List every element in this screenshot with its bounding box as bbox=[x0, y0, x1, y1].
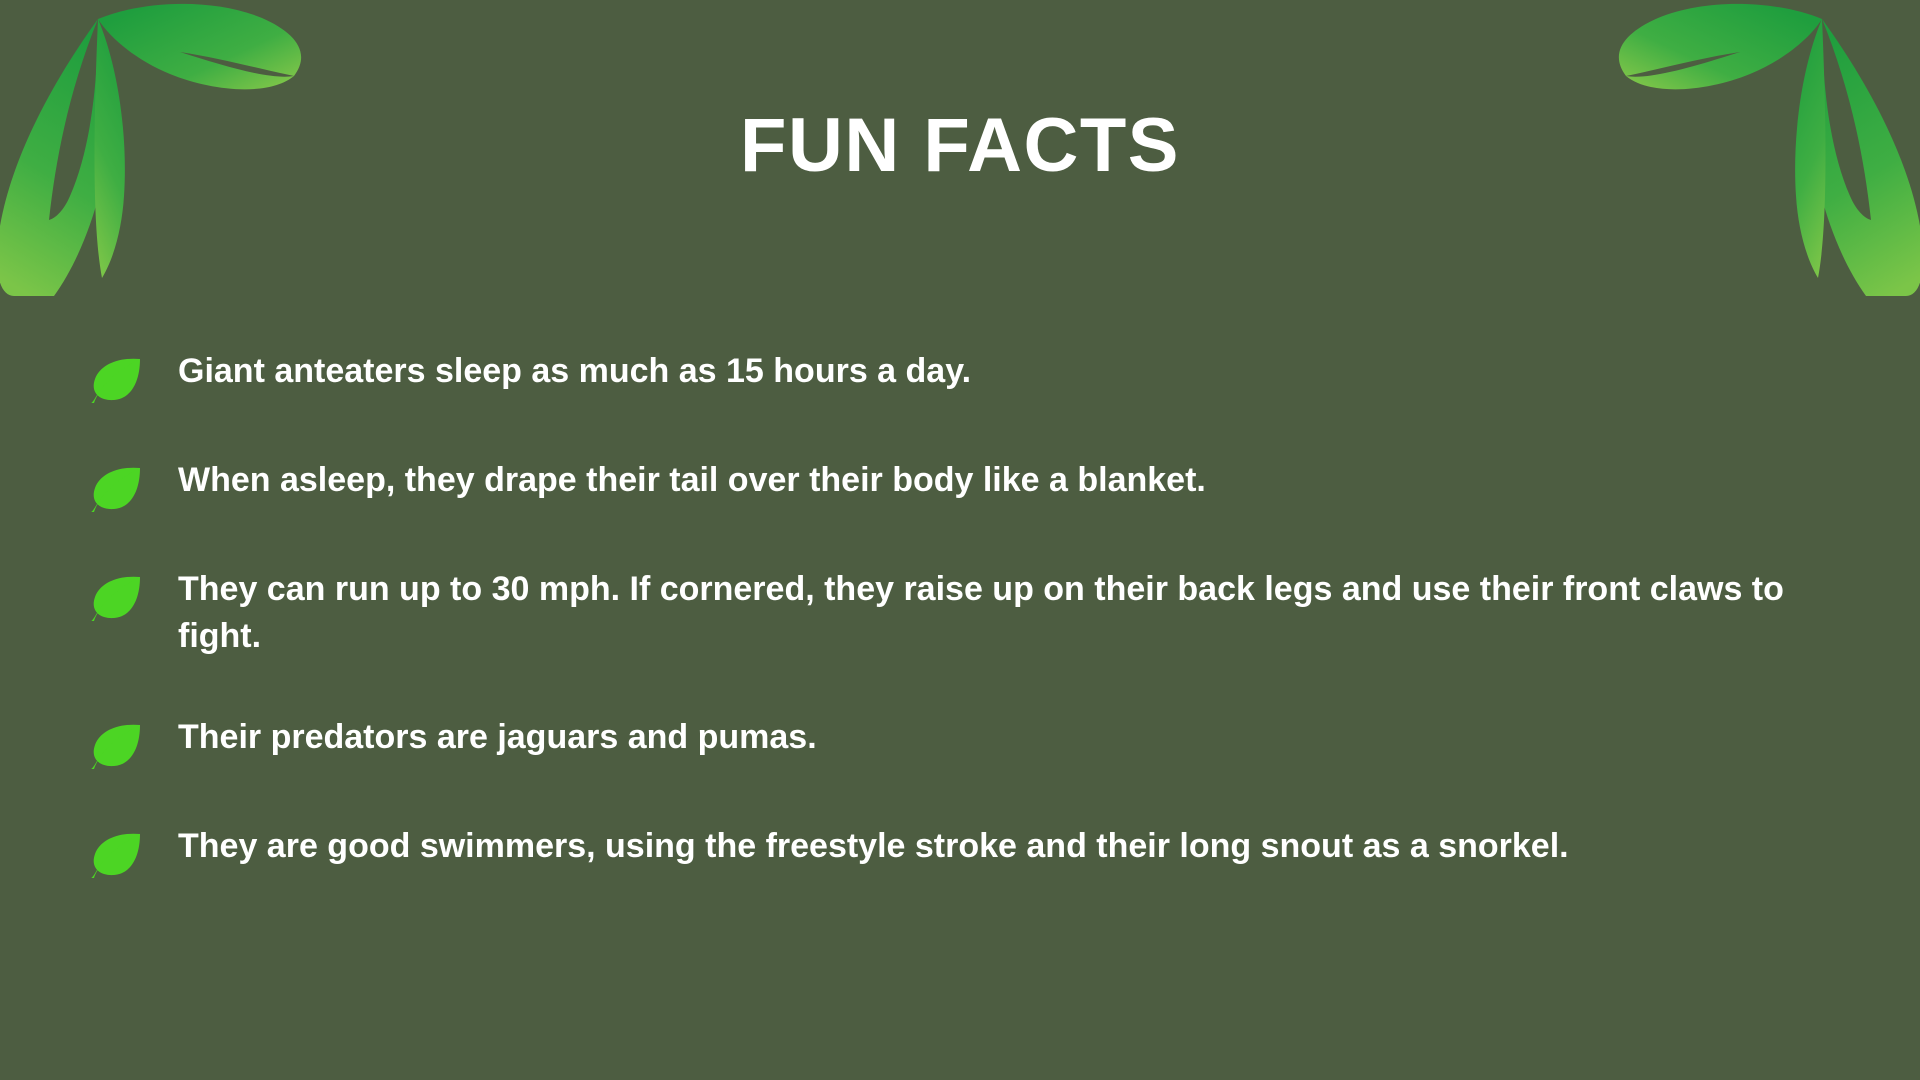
fun-facts-list: Giant anteaters sleep as much as 15 hour… bbox=[88, 348, 1848, 878]
list-item: They are good swimmers, using the freest… bbox=[88, 823, 1848, 878]
fact-text: They can run up to 30 mph. If cornered, … bbox=[178, 566, 1788, 660]
page-title: FUN FACTS bbox=[0, 108, 1920, 184]
list-item: When asleep, they drape their tail over … bbox=[88, 457, 1848, 512]
fact-text: Their predators are jaguars and pumas. bbox=[178, 714, 1788, 761]
leaf-icon bbox=[88, 828, 144, 878]
fact-text: They are good swimmers, using the freest… bbox=[178, 823, 1788, 870]
fact-text: When asleep, they drape their tail over … bbox=[178, 457, 1788, 504]
fact-text: Giant anteaters sleep as much as 15 hour… bbox=[178, 348, 1788, 395]
leaf-icon bbox=[88, 353, 144, 403]
leaf-icon bbox=[88, 571, 144, 621]
list-item: They can run up to 30 mph. If cornered, … bbox=[88, 566, 1848, 660]
slide-canvas: FUN FACTS Giant anteaters sleep as much … bbox=[0, 0, 1920, 1080]
list-item: Giant anteaters sleep as much as 15 hour… bbox=[88, 348, 1848, 403]
leaf-icon bbox=[88, 719, 144, 769]
list-item: Their predators are jaguars and pumas. bbox=[88, 714, 1848, 769]
leaf-icon bbox=[88, 462, 144, 512]
